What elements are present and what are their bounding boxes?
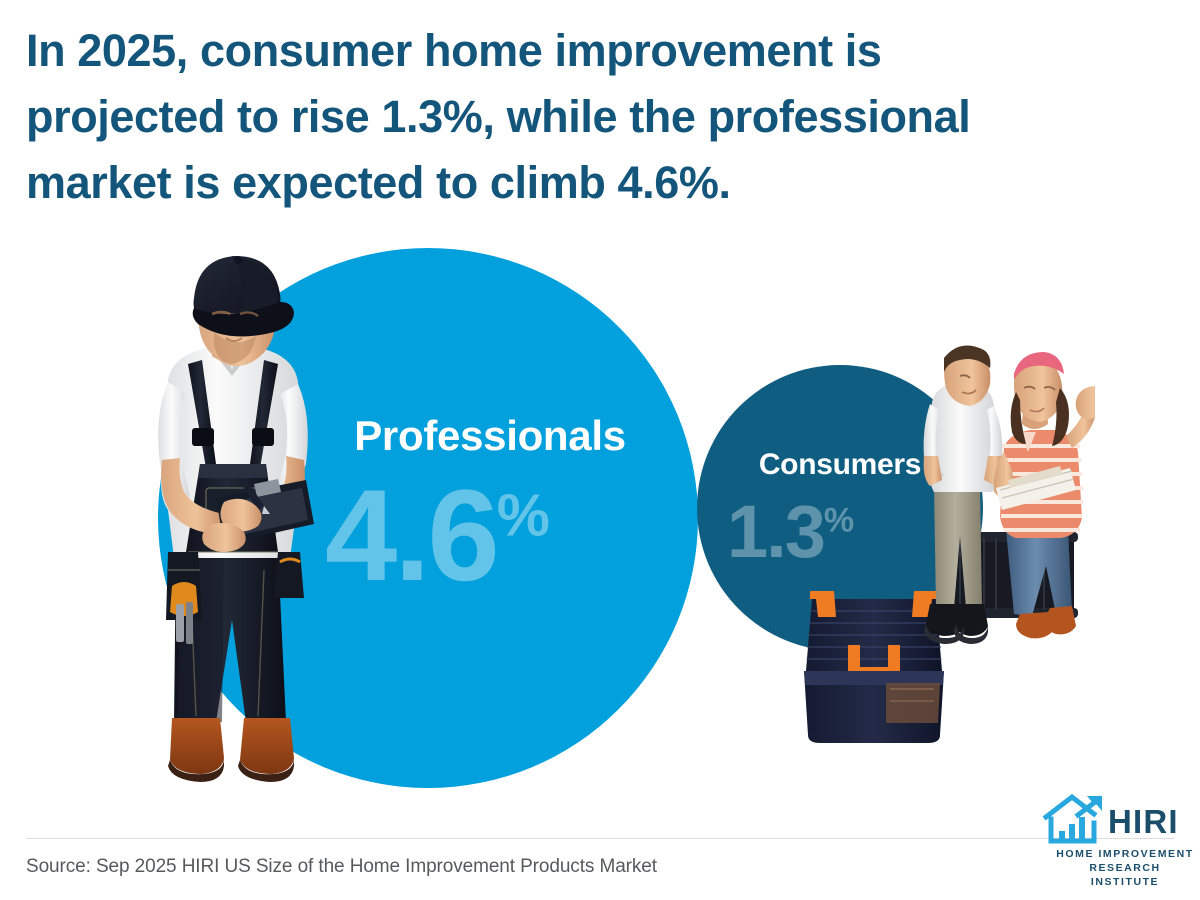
bubble-value-consumers: 1.3% xyxy=(727,495,853,569)
bubble-value-professionals: 4.6% xyxy=(325,470,549,600)
bubble-value-consumers-number: 1.3 xyxy=(727,490,824,573)
percent-symbol-professionals: % xyxy=(497,482,549,549)
logo-row: HIRI xyxy=(1042,793,1179,850)
hiri-logo: HIRI HOME IMPROVEMENT RESEARCH INSTITUTE xyxy=(1042,793,1192,875)
source-text: Source: Sep 2025 HIRI US Size of the Hom… xyxy=(26,856,657,878)
bubble-chart: Professionals 4.6% Consumers 1.3% xyxy=(0,230,1200,830)
house-growth-icon xyxy=(1042,793,1104,850)
bubble-label-professionals: Professionals xyxy=(290,412,690,460)
footer-divider xyxy=(26,838,1174,839)
bubble-value-professionals-number: 4.6 xyxy=(325,462,497,608)
percent-symbol-consumers: % xyxy=(824,501,853,539)
contractor-photo xyxy=(128,252,338,802)
couple-photo xyxy=(920,340,1095,670)
page-title: In 2025, consumer home improvement is pr… xyxy=(26,18,1186,216)
infographic-page: In 2025, consumer home improvement is pr… xyxy=(0,0,1200,900)
logo-wordmark: HIRI xyxy=(1108,803,1179,841)
logo-tagline: HOME IMPROVEMENT RESEARCH INSTITUTE xyxy=(1054,847,1196,889)
